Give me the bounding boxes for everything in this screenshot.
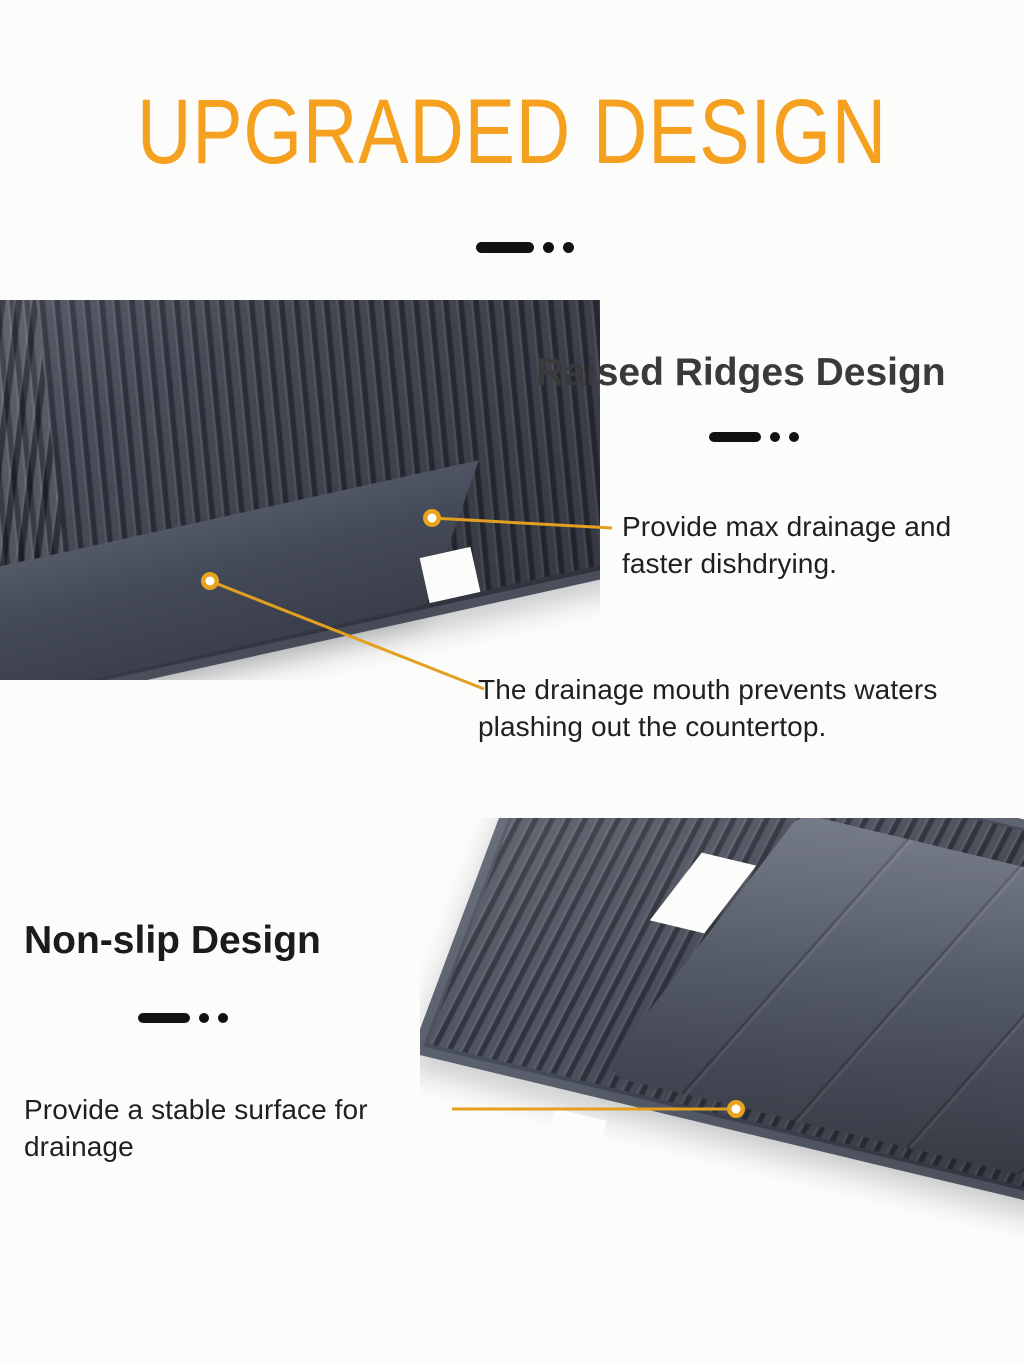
divider-dot-1 [199, 1013, 209, 1023]
product-photo-raised-ridges [0, 300, 600, 680]
product-photo-non-slip [420, 818, 1024, 1248]
divider-dot-2 [789, 432, 799, 442]
callout-stable-surface: Provide a stable surface for drainage [24, 1092, 464, 1166]
divider-dot-1 [543, 242, 554, 253]
divider-bar [476, 242, 534, 253]
raised-ridges-divider [709, 432, 799, 442]
callout-drainage-mouth: The drainage mouth prevents waters plash… [478, 672, 1024, 746]
section-heading-raised-ridges: Raised Ridges Design [536, 352, 946, 395]
non-slip-divider [138, 1013, 228, 1023]
divider-bar [709, 432, 761, 442]
divider-dot-1 [770, 432, 780, 442]
divider-bar [138, 1013, 190, 1023]
title-divider [476, 242, 574, 253]
divider-dot-2 [563, 242, 574, 253]
section-heading-non-slip: Non-slip Design [24, 920, 321, 963]
page-title: UPGRADED DESIGN [92, 86, 932, 178]
divider-dot-2 [218, 1013, 228, 1023]
callout-max-drainage: Provide max drainage and faster dishdryi… [622, 509, 1022, 583]
